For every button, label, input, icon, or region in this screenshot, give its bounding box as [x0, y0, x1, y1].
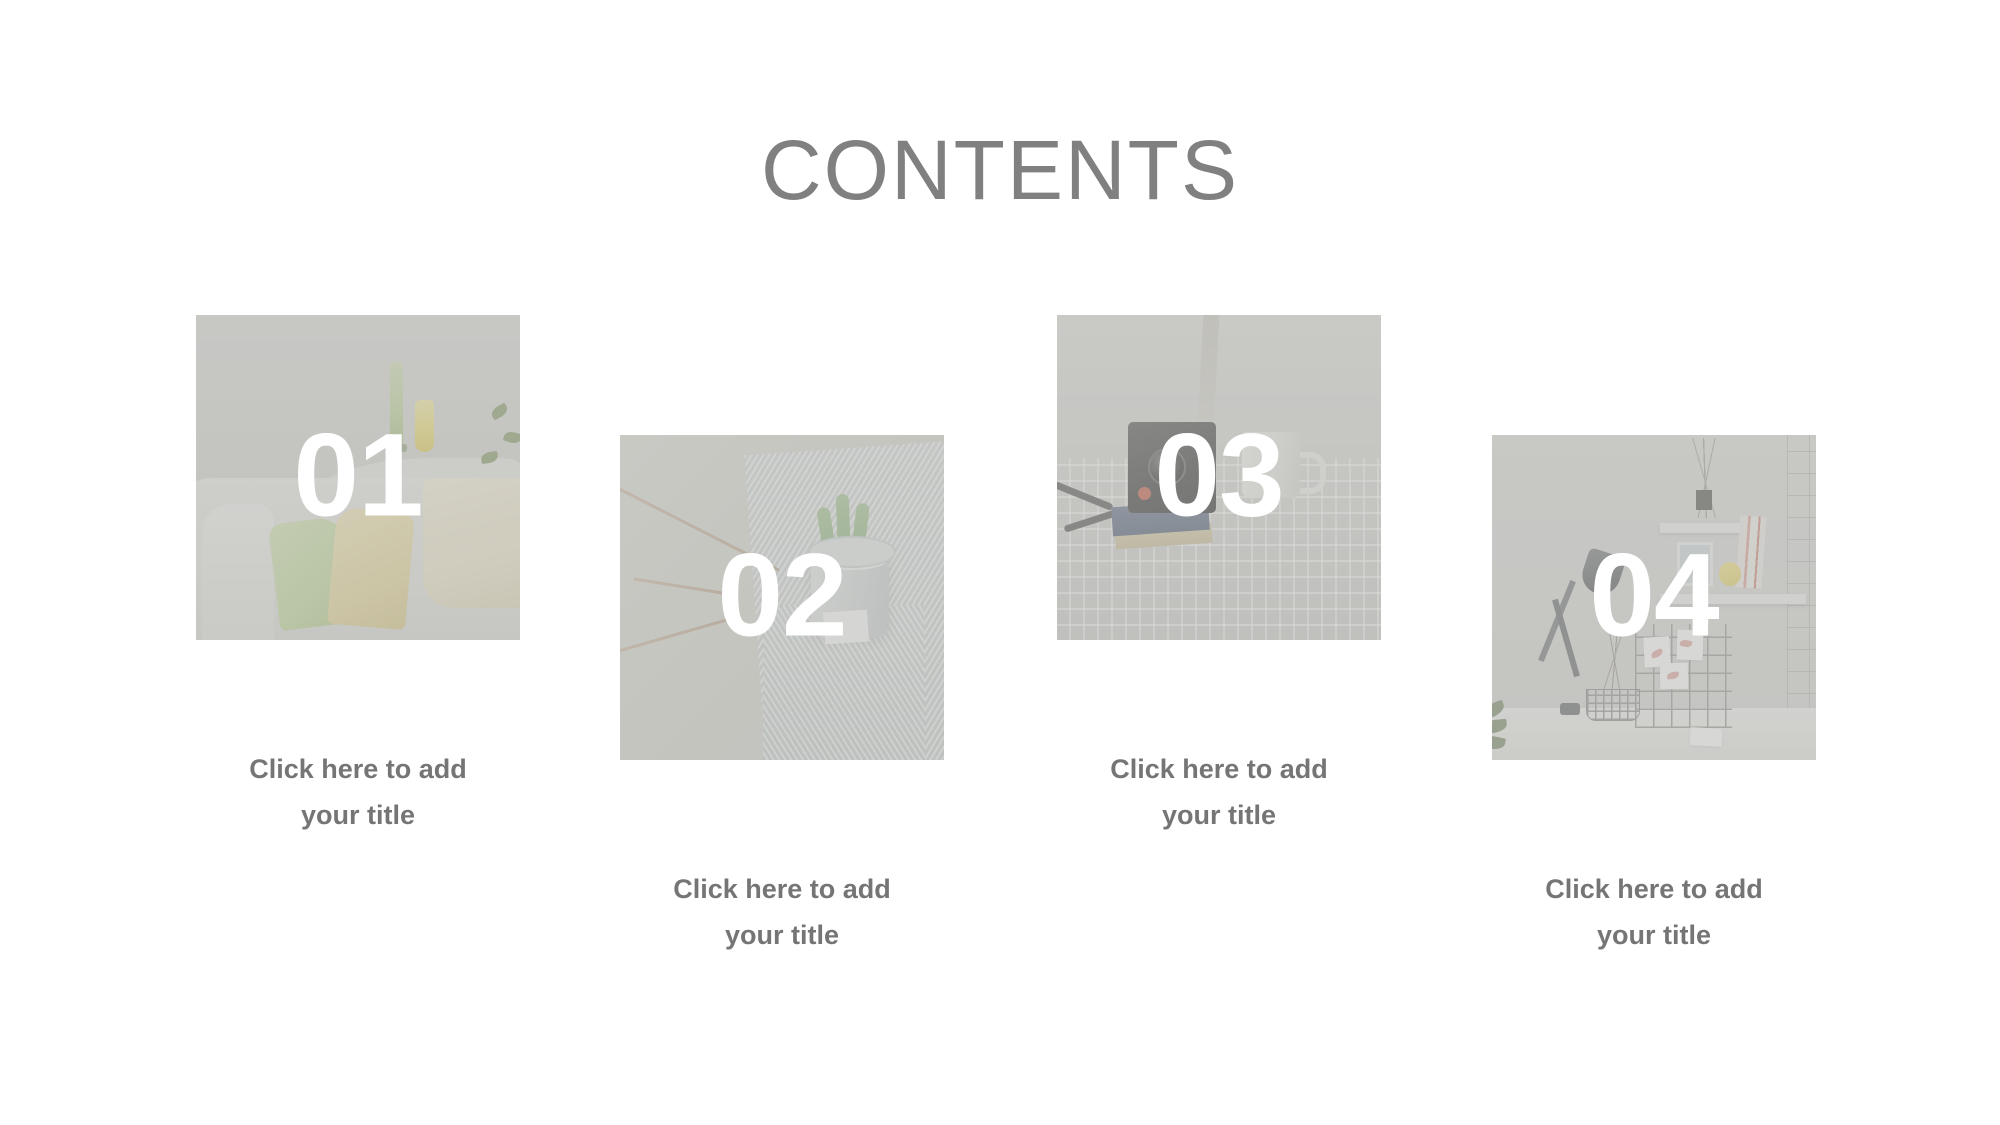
card-03-caption-line-1: Click here to add: [1057, 746, 1381, 792]
card-02-caption-line-2: your title: [620, 912, 944, 958]
content-card-04[interactable]: 04 Click here to add your title: [1492, 435, 1816, 959]
content-card-03[interactable]: 03 Click here to add your title: [1057, 315, 1381, 839]
card-02-image[interactable]: 02: [620, 435, 944, 760]
page-title: CONTENTS: [0, 128, 2000, 212]
card-02-caption[interactable]: Click here to add your title: [620, 866, 944, 959]
card-03-caption[interactable]: Click here to add your title: [1057, 746, 1381, 839]
card-04-caption-line-2: your title: [1492, 912, 1816, 958]
slide-canvas: CONTENTS 01 Click here to add y: [0, 0, 2000, 1125]
content-card-02[interactable]: 02 Click here to add your title: [620, 435, 944, 959]
content-card-01[interactable]: 01 Click here to add your title: [196, 315, 520, 839]
card-04-image[interactable]: 04: [1492, 435, 1816, 760]
card-01-number: 01: [196, 416, 520, 534]
card-03-number: 03: [1057, 416, 1381, 534]
card-04-caption-line-1: Click here to add: [1492, 866, 1816, 912]
card-01-image[interactable]: 01: [196, 315, 520, 640]
card-04-caption[interactable]: Click here to add your title: [1492, 866, 1816, 959]
card-03-caption-line-2: your title: [1057, 792, 1381, 838]
card-02-caption-line-1: Click here to add: [620, 866, 944, 912]
card-04-number: 04: [1492, 536, 1816, 654]
card-01-caption-line-2: your title: [196, 792, 520, 838]
card-03-image[interactable]: 03: [1057, 315, 1381, 640]
card-01-caption[interactable]: Click here to add your title: [196, 746, 520, 839]
card-01-caption-line-1: Click here to add: [196, 746, 520, 792]
card-02-number: 02: [620, 536, 944, 654]
